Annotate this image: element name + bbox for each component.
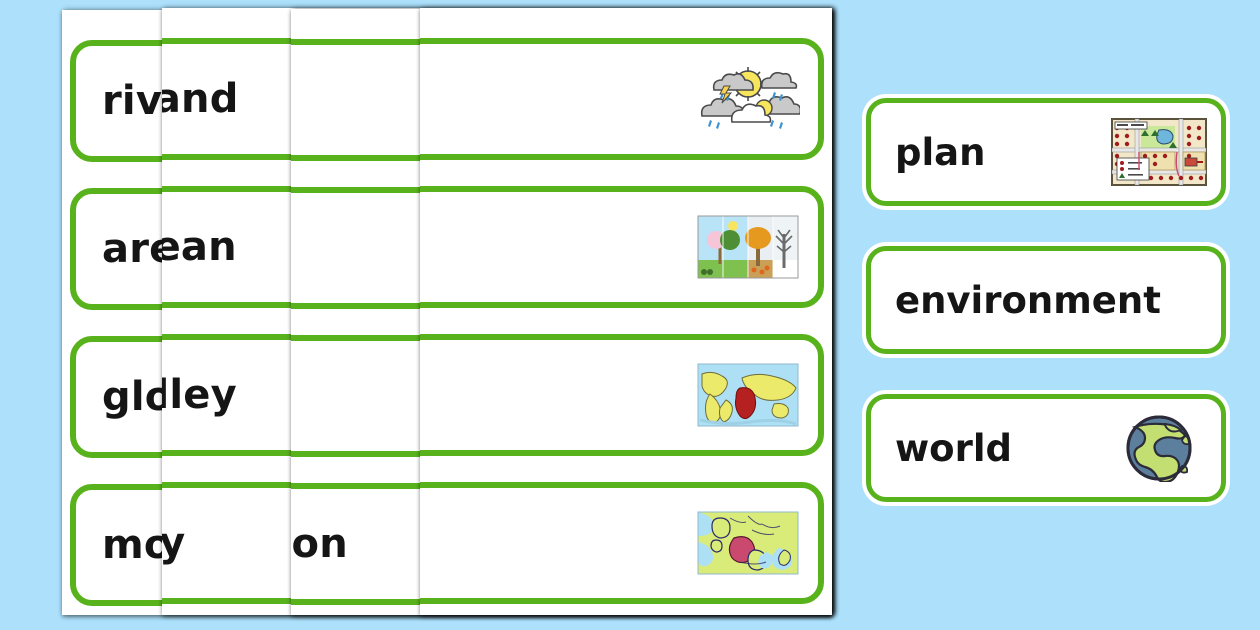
word-label: vegetation (291, 524, 348, 564)
town-plan-icon (1111, 118, 1207, 186)
word-card-seasons[interactable]: seasons (420, 186, 824, 308)
earth-globe-icon (1111, 414, 1207, 482)
word-card-plan[interactable]: plan (866, 98, 1226, 206)
word-card-continent[interactable]: continent (420, 334, 824, 456)
word-label: world (895, 430, 1012, 467)
word-card-country[interactable]: country (420, 482, 824, 604)
word-label: plan (895, 134, 985, 171)
world-map-icon (696, 360, 800, 430)
weather-icon (696, 64, 800, 134)
word-card-environment[interactable]: environment (866, 246, 1226, 354)
seasons-icon (696, 212, 800, 282)
word-card-weather[interactable]: weather (420, 38, 824, 160)
paper-sheet-4[interactable]: weather (420, 8, 832, 615)
word-label: ocean (162, 227, 237, 267)
europe-map-icon (696, 508, 800, 578)
word-label: city (162, 523, 185, 563)
card-stage: river area globe mountain (0, 0, 1260, 630)
sheet-4-content: weather (420, 8, 832, 613)
word-label: environment (895, 282, 1161, 319)
word-label: valley (162, 375, 237, 415)
word-label: island (162, 79, 239, 119)
word-card-world[interactable]: world (866, 394, 1226, 502)
